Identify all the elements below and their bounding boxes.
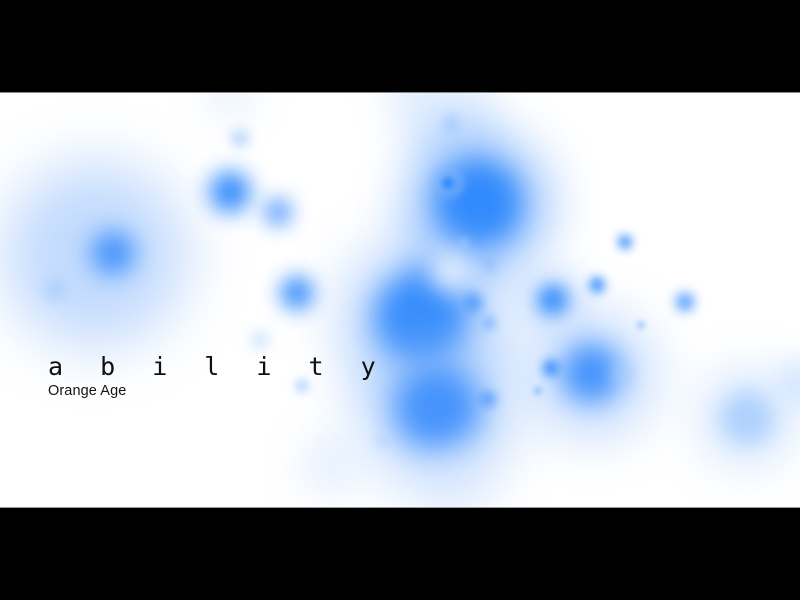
- page-subtitle: Orange Age: [48, 383, 387, 400]
- bokeh-right-big-dot: [543, 360, 559, 376]
- bokeh-right-dot-a: [618, 235, 632, 249]
- bokeh-right-big-halo: [530, 313, 654, 437]
- bokeh-lower-notch: [431, 254, 469, 292]
- bokeh-center-left-pale: [404, 254, 446, 296]
- bokeh-top-ring-core: [443, 115, 459, 131]
- bokeh-top-ring-halo: [405, 93, 497, 171]
- bokeh-center-ring: [433, 167, 465, 199]
- page-title: a b i l i t y: [48, 352, 387, 382]
- bokeh-corner-edge: [776, 359, 800, 407]
- bokeh-top-edge-b: [384, 93, 432, 117]
- bokeh-lower-dot-b: [483, 317, 495, 329]
- splash-screen: a b i l i t y Orange Age: [0, 0, 800, 600]
- bokeh-right-mid-core: [538, 285, 568, 315]
- bokeh-lower-big-core: [376, 273, 466, 363]
- bokeh-center-ring-dot: [442, 177, 454, 189]
- bokeh-right-big-tiny: [534, 387, 542, 395]
- bokeh-bottom-edge-b: [421, 449, 489, 507]
- bokeh-right-big-pale: [612, 365, 632, 385]
- bokeh-right-dot-c: [676, 293, 694, 311]
- bokeh-corner-halo: [697, 368, 797, 468]
- bokeh-upper-mid: [264, 198, 292, 226]
- letterbox-bar-top: [0, 0, 800, 92]
- bokeh-top-edge-a: [204, 93, 256, 121]
- blue-bokeh-background: [0, 93, 800, 507]
- bokeh-lower-dot-a: [464, 294, 482, 312]
- bokeh-center-big-halo: [410, 137, 546, 273]
- bokeh-right-dot-d: [637, 321, 645, 329]
- bokeh-corner-core: [721, 392, 773, 444]
- bokeh-bottom-dot-a: [376, 435, 388, 447]
- bokeh-right-dot-b: [589, 277, 605, 293]
- bokeh-center-tiny-a: [482, 257, 496, 271]
- title-block: a b i l i t y Orange Age: [48, 352, 387, 400]
- bokeh-bottom-dot-b: [480, 391, 496, 407]
- bokeh-bottom-big-core: [395, 366, 479, 450]
- letterbox-edge-top: [0, 92, 800, 93]
- bokeh-left-halo: [3, 163, 187, 347]
- bokeh-center-big-core: [437, 162, 519, 244]
- letterbox-bar-bottom: [0, 508, 800, 600]
- bokeh-right-mid-halo: [523, 270, 583, 330]
- bokeh-mid-left: [280, 276, 314, 310]
- bokeh-bottom-edge-a: [300, 435, 360, 495]
- bokeh-upper-bright: [209, 171, 251, 213]
- bokeh-left-small: [45, 280, 65, 300]
- bokeh-upper-dot: [231, 129, 249, 147]
- bokeh-left-core: [91, 231, 135, 275]
- bokeh-right-big-core: [562, 344, 620, 402]
- bokeh-mid-left-faint: [251, 331, 269, 349]
- bokeh-center-tiny-b: [459, 238, 469, 248]
